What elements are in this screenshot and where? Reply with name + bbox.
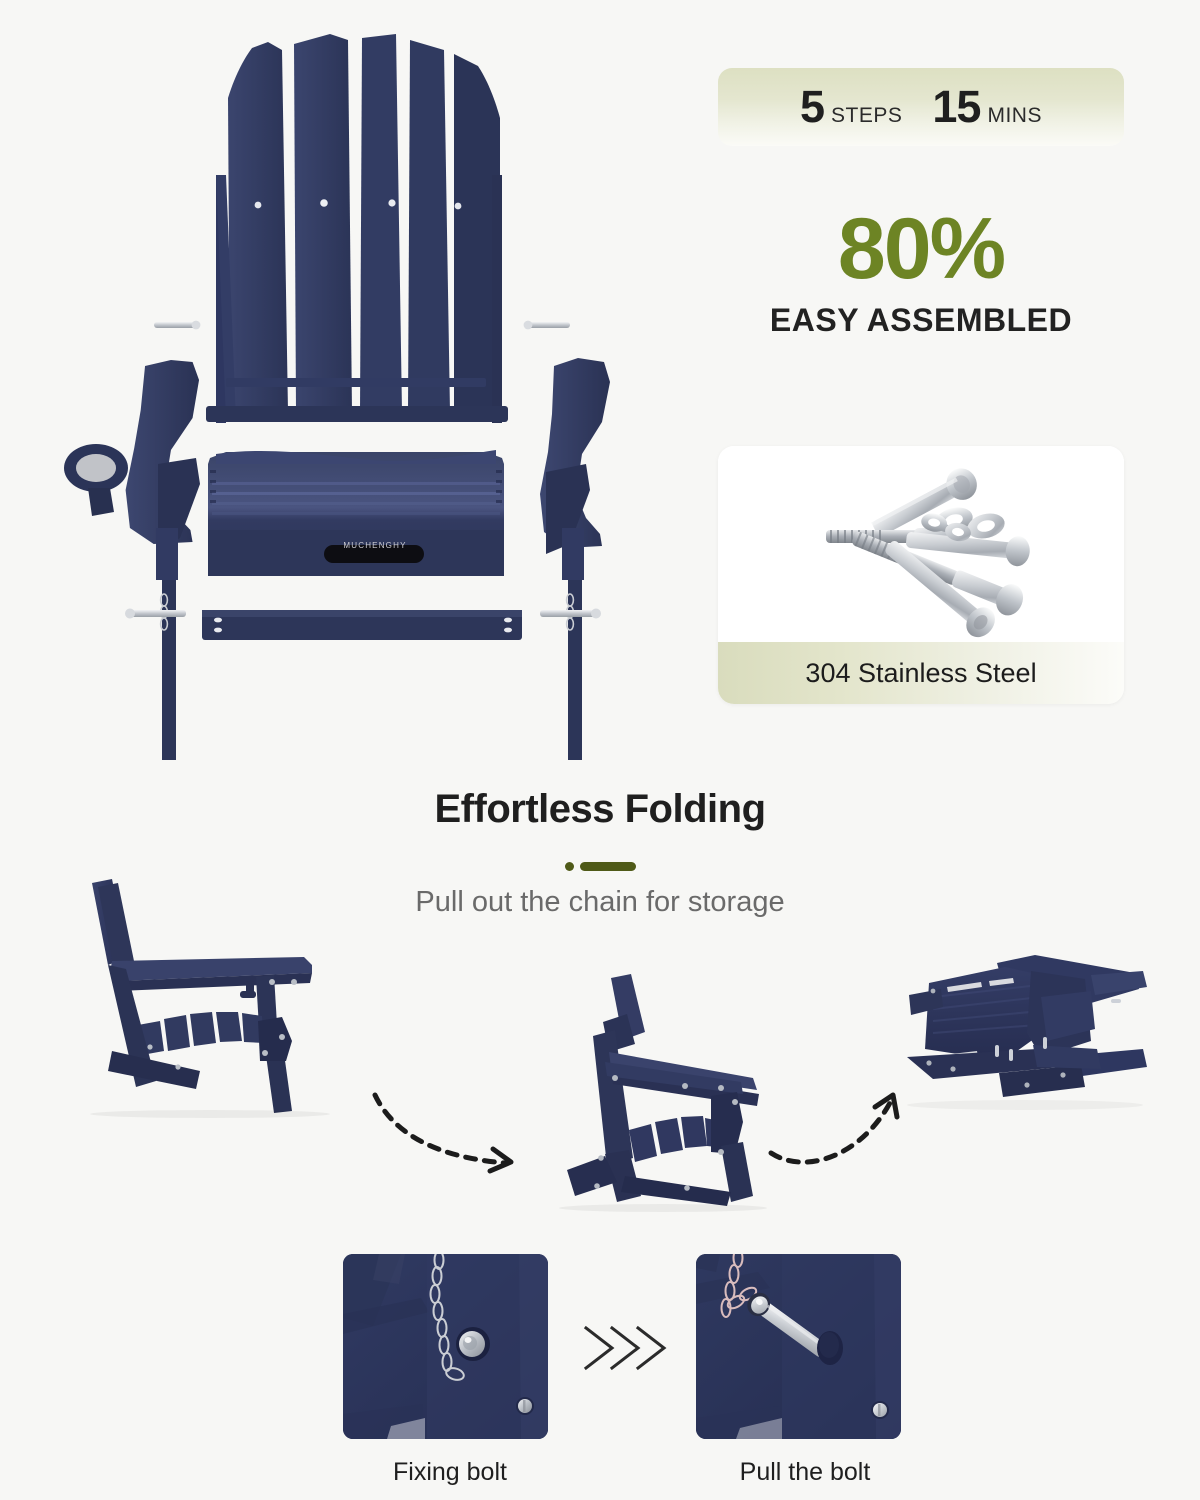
bolt-head: [456, 1327, 490, 1361]
material-card-footer: 304 Stainless Steel: [718, 642, 1124, 704]
mins-value: 15: [932, 81, 980, 133]
divider-dot: [565, 862, 574, 871]
percent-value: 80%: [718, 206, 1124, 292]
right-bolt: [540, 609, 601, 619]
folding-step-1-assembled-chair: [60, 865, 370, 1115]
folding-section-heading: Effortless Folding: [0, 787, 1200, 832]
chair-cross-bar: [202, 610, 522, 640]
easy-assembled-highlight: 80% EASY ASSEMBLED: [718, 206, 1124, 339]
steps-unit: STEPS: [831, 104, 902, 128]
material-card: 304 Stainless Steel: [718, 446, 1124, 704]
chair-seat-assembly: MUCHENGHY: [208, 450, 504, 576]
chair-back-slats: [228, 34, 500, 412]
chair-right-arm-assembly: [524, 321, 610, 760]
left-top-pin: [154, 321, 200, 330]
fold-arrow-1: [365, 1085, 535, 1175]
percent-caption: EASY ASSEMBLED: [718, 302, 1124, 339]
left-bolt: [125, 609, 186, 619]
svg-text:MUCHENGHY: MUCHENGHY: [343, 541, 406, 550]
caption-pull-bolt: Pull the bolt: [615, 1458, 995, 1487]
folding-step-3-folded-flat: [885, 945, 1155, 1120]
hardware-photo: [718, 446, 1124, 642]
material-label: 304 Stainless Steel: [805, 658, 1036, 689]
folding-step-2-mid-fold: [545, 970, 795, 1210]
progress-chevrons: [578, 1318, 688, 1378]
screw: [871, 1401, 889, 1419]
exploded-chair-parts-illustration: MUCHENGHY: [30, 20, 690, 765]
divider-bar: [580, 862, 636, 871]
detail-panel-fixing-bolt: [343, 1254, 548, 1439]
steps-value: 5: [800, 81, 824, 133]
screw: [516, 1397, 534, 1415]
assembly-time-badge: 5 STEPS 15 MINS: [718, 68, 1124, 146]
mins-unit: MINS: [987, 104, 1042, 128]
cup-holder-ring: [64, 444, 128, 516]
caption-fixing-bolt: Fixing bolt: [260, 1458, 640, 1487]
mins-group: 15 MINS: [932, 81, 1042, 133]
detail-panel-pull-bolt: [696, 1254, 901, 1439]
chair-left-arm-assembly: [64, 321, 200, 760]
right-top-pin: [524, 321, 570, 330]
steps-group: 5 STEPS: [800, 81, 902, 133]
